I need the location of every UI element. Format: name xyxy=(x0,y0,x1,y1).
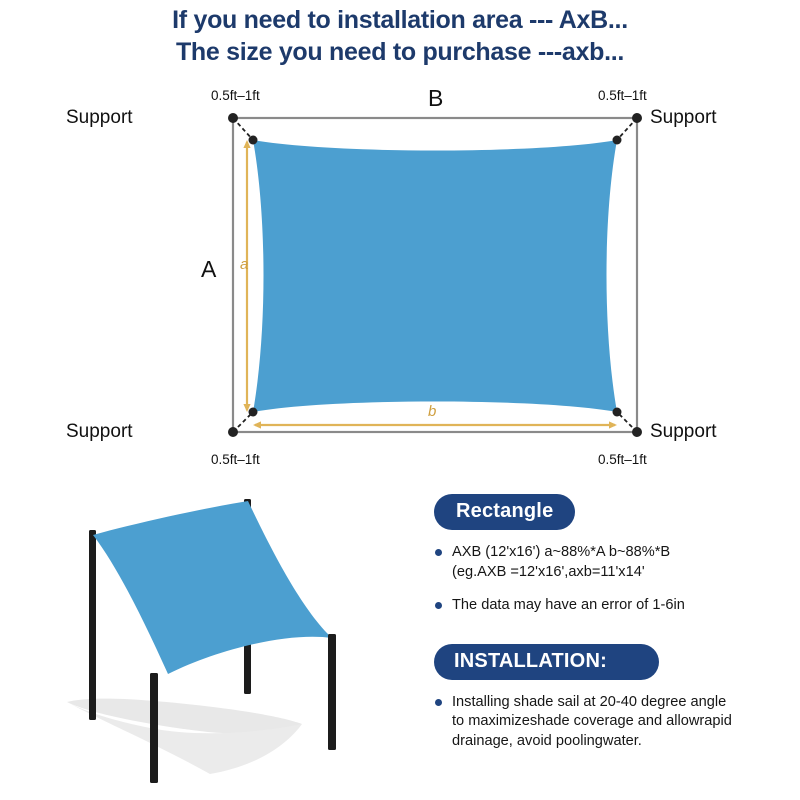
illustration-svg xyxy=(20,488,420,788)
anchor-dot-sail-top-left xyxy=(249,136,258,145)
post-front-right xyxy=(328,634,336,750)
support-label-top-right: Support xyxy=(650,107,717,129)
installation-area-diagram: 0.5ft–1ft 0.5ft–1ft 0.5ft–1ft 0.5ft–1ft … xyxy=(0,70,800,480)
post-front-left xyxy=(150,673,158,783)
gap-label-bottom-right: 0.5ft–1ft xyxy=(598,452,647,467)
rectangle-badge: Rectangle xyxy=(434,494,575,530)
list-item: Installing shade sail at 20-40 degree an… xyxy=(434,693,790,752)
anchor-dot-frame-bottom-left xyxy=(228,427,238,437)
info-panel: Rectangle AXB (12'x16') a~88%*A b~88%*B … xyxy=(434,494,790,765)
installation-bullet-list: Installing shade sail at 20-40 degree an… xyxy=(434,693,790,752)
rectangle-bullet-list: AXB (12'x16') a~88%*A b~88%*B (eg.AXB =1… xyxy=(434,543,790,616)
shade-sail-shape xyxy=(253,140,617,412)
support-label-bottom-right: Support xyxy=(650,421,717,443)
installation-section: INSTALLATION: Installing shade sail at 2… xyxy=(434,644,790,752)
anchor-dot-frame-top-left xyxy=(228,113,238,123)
anchor-dot-sail-bottom-right xyxy=(613,408,622,417)
gap-label-top-right: 0.5ft–1ft xyxy=(598,88,647,103)
bullet-text-line-1: The data may have an error of 1-6in xyxy=(452,596,790,616)
area-label-a: A xyxy=(201,256,216,283)
gap-label-bottom-left: 0.5ft–1ft xyxy=(211,452,260,467)
area-label-b: B xyxy=(428,85,443,112)
anchor-dot-frame-top-right xyxy=(632,113,642,123)
bullet-text-line-1: Installing shade sail at 20-40 degree an… xyxy=(452,693,790,713)
list-item: The data may have an error of 1-6in xyxy=(434,596,790,616)
gap-label-top-left: 0.5ft–1ft xyxy=(211,88,260,103)
post-rear-left xyxy=(89,530,96,720)
diagram-svg xyxy=(0,70,800,480)
page-title: If you need to installation area --- AxB… xyxy=(0,4,800,68)
bullet-text-line-3: drainage, avoid poolingwater. xyxy=(452,732,790,752)
anchor-dot-frame-bottom-right xyxy=(632,427,642,437)
installation-badge: INSTALLATION: xyxy=(434,644,659,680)
headline-line-1: If you need to installation area --- AxB… xyxy=(0,4,800,36)
illustration-sail xyxy=(93,501,332,674)
sail-dimension-label-a: a xyxy=(240,256,248,273)
support-label-top-left: Support xyxy=(66,107,133,129)
bullet-text-line-2: (eg.AXB =12'x16',axb=11'x14' xyxy=(452,563,790,583)
bullet-text-line-1: AXB (12'x16') a~88%*A b~88%*B xyxy=(452,543,790,563)
list-item: AXB (12'x16') a~88%*A b~88%*B (eg.AXB =1… xyxy=(434,543,790,582)
headline-line-2: The size you need to purchase ---axb... xyxy=(0,36,800,68)
support-label-bottom-left: Support xyxy=(66,421,133,443)
rectangle-section: Rectangle AXB (12'x16') a~88%*A b~88%*B … xyxy=(434,494,790,616)
sail-dimension-label-b: b xyxy=(428,403,436,420)
bullet-text-line-2: to maximizeshade coverage and allowrapid xyxy=(452,712,790,732)
anchor-dot-sail-top-right xyxy=(613,136,622,145)
shade-sail-illustration xyxy=(20,488,420,788)
dimension-arrow-b xyxy=(253,421,617,428)
anchor-dot-sail-bottom-left xyxy=(249,408,258,417)
dimension-arrow-a xyxy=(243,140,250,412)
